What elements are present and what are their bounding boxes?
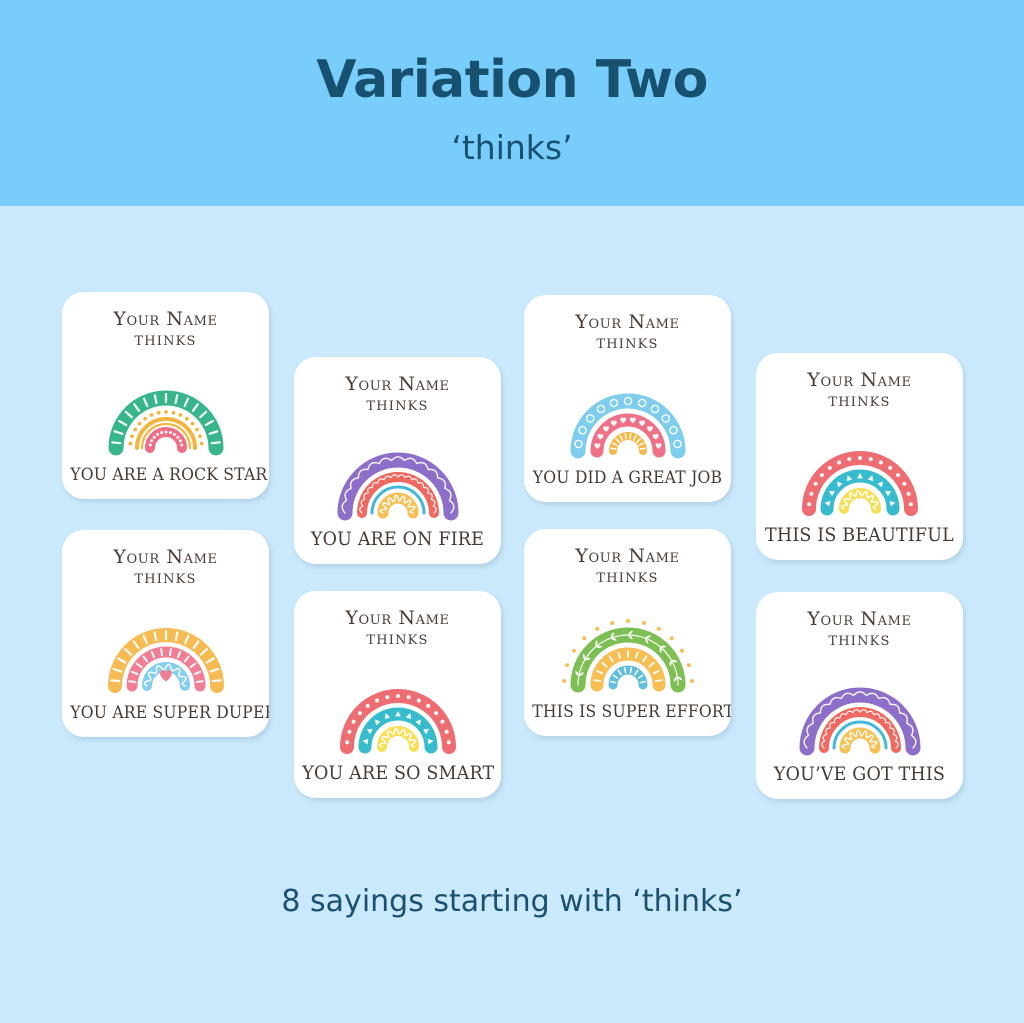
rainbow-icon xyxy=(91,592,241,696)
card-name-placeholder: Your Name xyxy=(62,308,269,330)
sticker-preview-page: Variation Two ‘thinks’ Your Namethinksyo… xyxy=(0,0,1024,1023)
card-saying-text: this is super effort xyxy=(532,702,722,722)
page-subtitle: ‘thinks’ xyxy=(0,128,1024,167)
card-saying-text: you are so smart xyxy=(302,762,492,784)
card-name-placeholder: Your Name xyxy=(524,545,731,567)
rainbow-icon xyxy=(553,357,703,461)
card-name-placeholder: Your Name xyxy=(62,546,269,568)
card-verb-label: thinks xyxy=(62,572,269,587)
rainbow-icon xyxy=(323,419,473,523)
sticker-card[interactable]: Your Namethinksthis is super effort xyxy=(524,529,731,736)
sticker-card[interactable]: Your Namethinksyou are so smart xyxy=(294,591,501,798)
sticker-card[interactable]: Your Namethinksyou are on fire xyxy=(294,357,501,564)
card-verb-label: thinks xyxy=(62,334,269,349)
rainbow-icon xyxy=(91,354,241,458)
card-verb-label: thinks xyxy=(294,399,501,414)
sticker-card[interactable]: Your Namethinksthis is beautiful xyxy=(756,353,963,560)
card-name-placeholder: Your Name xyxy=(294,373,501,395)
footer-caption: 8 sayings starting with ‘thinks’ xyxy=(0,884,1024,919)
card-saying-text: you are on fire xyxy=(302,528,492,550)
card-verb-label: thinks xyxy=(524,571,731,586)
sticker-card[interactable]: Your Namethinksyou’ve got this xyxy=(756,592,963,799)
card-name-placeholder: Your Name xyxy=(524,311,731,333)
sticker-card[interactable]: Your Namethinksyou are a rock star xyxy=(62,292,269,499)
sticker-card[interactable]: Your Namethinksyou are super duper xyxy=(62,530,269,737)
card-verb-label: thinks xyxy=(756,634,963,649)
card-saying-text: you are super duper xyxy=(70,703,260,723)
page-title: Variation Two xyxy=(0,50,1024,110)
card-verb-label: thinks xyxy=(294,633,501,648)
rainbow-icon xyxy=(553,591,703,695)
card-verb-label: thinks xyxy=(756,395,963,410)
header-band: Variation Two ‘thinks’ xyxy=(0,0,1024,206)
rainbow-icon xyxy=(785,654,935,758)
card-saying-text: you’ve got this xyxy=(764,763,954,785)
card-name-placeholder: Your Name xyxy=(756,608,963,630)
card-verb-label: thinks xyxy=(524,337,731,352)
rainbow-icon xyxy=(323,653,473,757)
card-name-placeholder: Your Name xyxy=(294,607,501,629)
rainbow-icon xyxy=(785,415,935,519)
card-saying-text: you did a great job xyxy=(532,468,722,488)
card-saying-text: you are a rock star xyxy=(70,465,260,485)
sticker-card[interactable]: Your Namethinksyou did a great job xyxy=(524,295,731,502)
card-saying-text: this is beautiful xyxy=(764,524,954,546)
card-name-placeholder: Your Name xyxy=(756,369,963,391)
